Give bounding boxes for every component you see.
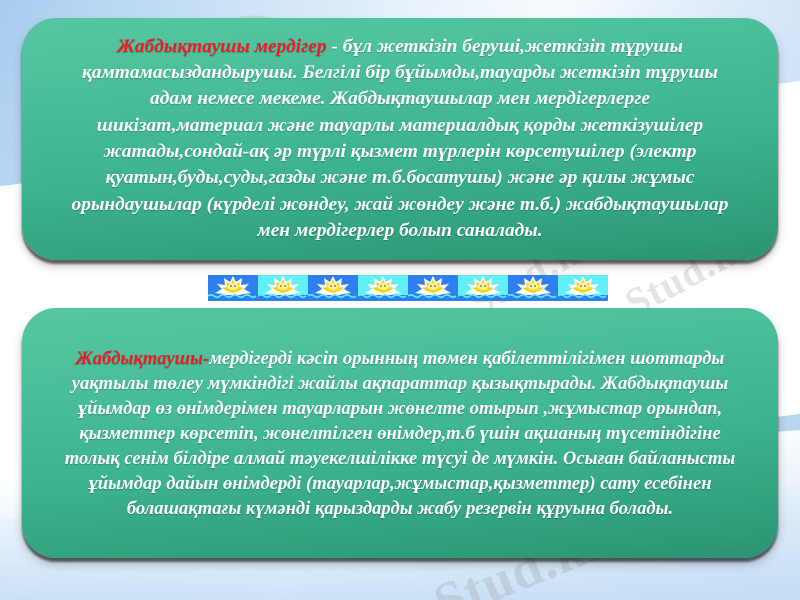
content-panel-bottom: Жабдықтаушы-мердігерді кәсіп орынның төм… (22, 308, 778, 558)
sun-over-water-icon (208, 275, 258, 301)
sun-over-water-tile (408, 275, 458, 301)
slide-canvas: Stud.kz - Stud.kz Stud.kz - Stud.kz Stud… (0, 0, 800, 600)
sun-over-water-icon (258, 275, 308, 301)
sun-wave-tile-strip (208, 275, 608, 301)
sun-over-water-tile (508, 275, 558, 301)
panel-bottom-body: мердігерді кәсіп орынның төмен қабілетті… (65, 348, 736, 519)
sun-over-water-tile (258, 275, 308, 301)
panel-top-body: - бұл жеткізіп беруші,жеткізіп тұрушы қа… (72, 36, 729, 241)
panel-bottom-lead: Жабдықтаушы- (76, 348, 210, 369)
sun-over-water-icon (358, 275, 408, 301)
sun-over-water-icon (458, 275, 508, 301)
sun-over-water-icon (308, 275, 358, 301)
sun-over-water-icon (558, 275, 608, 301)
sun-over-water-tile (358, 275, 408, 301)
sun-over-water-tile (308, 275, 358, 301)
panel-top-paragraph: Жабдықтаушы мердігер - бұл жеткізіп беру… (66, 34, 734, 244)
panel-top-lead: Жабдықтаушы мердігер (117, 36, 326, 57)
content-panel-top: Жабдықтаушы мердігер - бұл жеткізіп беру… (22, 18, 778, 260)
sun-over-water-tile (558, 275, 608, 301)
sun-over-water-tile (208, 275, 258, 301)
sun-over-water-tile (458, 275, 508, 301)
panel-bottom-paragraph: Жабдықтаушы-мердігерді кәсіп орынның төм… (62, 346, 738, 521)
sun-over-water-icon (408, 275, 458, 301)
sun-over-water-icon (508, 275, 558, 301)
